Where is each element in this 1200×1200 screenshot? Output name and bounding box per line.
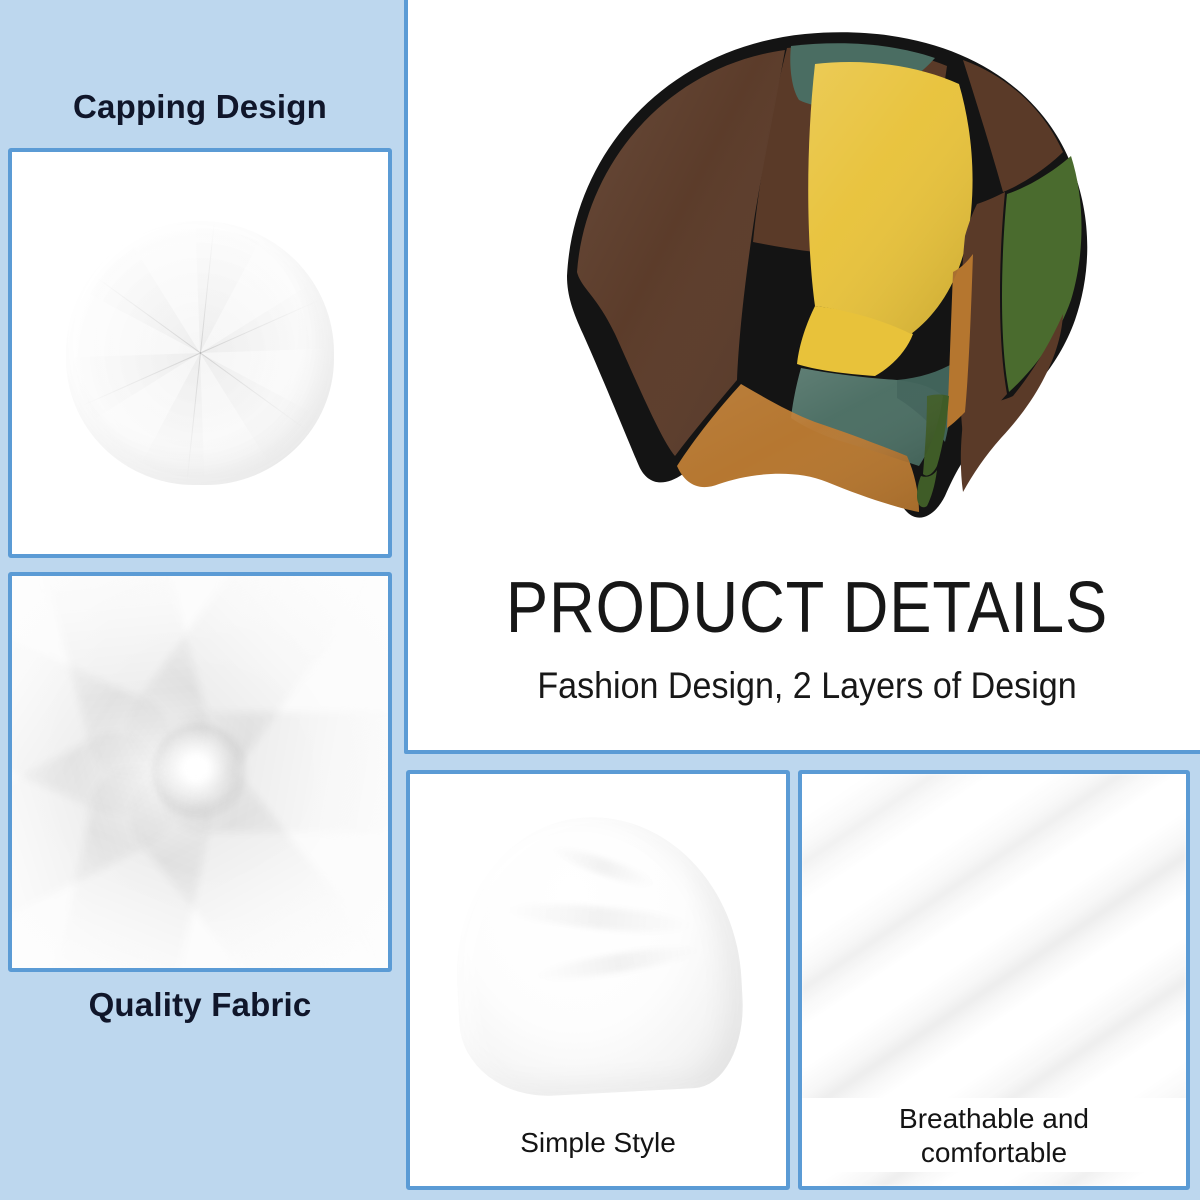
capping-design-title: Capping Design [0,88,400,126]
white-cap-top-view-image [66,221,334,485]
breathable-comfortable-panel: Breathable and comfortable [798,770,1190,1190]
breathable-caption-line-2: comfortable [802,1136,1186,1170]
hero-stage [408,0,1200,569]
swirl-vignette [12,576,388,968]
quality-fabric-panel [8,572,392,972]
simple-style-caption: Simple Style [410,1126,786,1160]
beanie-body [449,810,746,1100]
breathable-caption-line-1: Breathable and [802,1102,1186,1136]
product-details-panel: PRODUCT DETAILS Fashion Design, 2 Layers… [404,0,1200,754]
patchwork-slouchy-beanie-image [515,4,1115,564]
product-details-subheadline: Fashion Design, 2 Layers of Design [440,666,1174,707]
capping-design-panel [8,148,392,558]
plain-white-beanie-image [429,797,766,1113]
quality-fabric-title: Quality Fabric [0,986,400,1024]
white-fabric-swirl-image [12,576,388,968]
product-details-headline: PRODUCT DETAILS [456,572,1158,644]
simple-style-panel: Simple Style [406,770,790,1190]
product-details-infographic: Capping Design [0,0,1200,1200]
breathable-comfortable-caption: Breathable and comfortable [802,1098,1186,1172]
